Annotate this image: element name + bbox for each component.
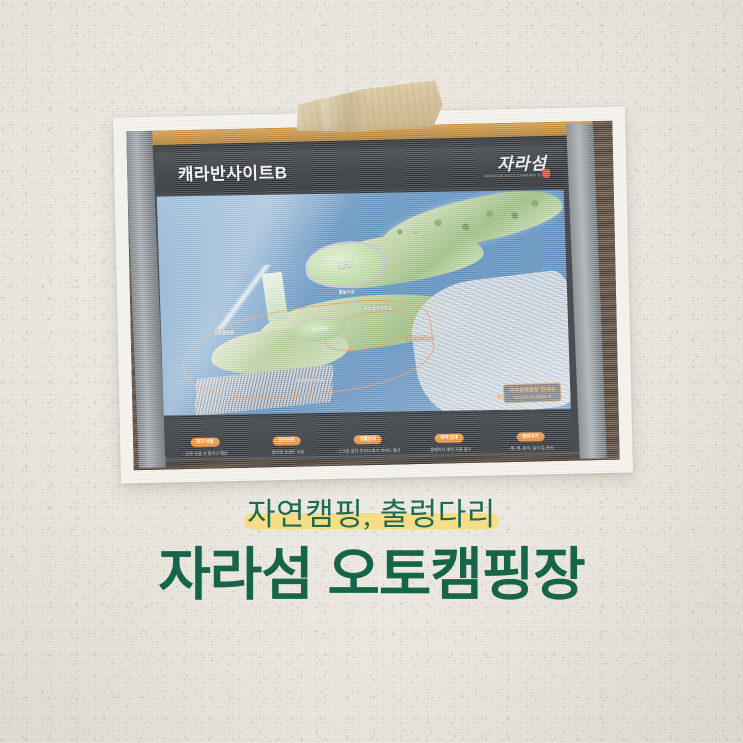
legend-item: 생활안내 - 스크린 설치 주차/소화기 카바드 철거 (329, 427, 407, 455)
map-info-center-box: 자라섬캠핑장 안내소 031)8028-8828~9 (503, 382, 562, 403)
information-sign-board: 캐라반사이트B 자라섬 JARASUM AUTO CAMPING SITE (137, 129, 590, 458)
map-label-caravan-site-a: 캬라반사이트A (297, 377, 325, 383)
legend-badge: 생활안내 (354, 435, 382, 444)
legend-item: 분리수거 - 병, 캔, 종이, 음식 등 분리 (492, 424, 570, 452)
jarasum-logo-mark-icon (543, 169, 551, 178)
sign-header-title: 캐라반사이트B (177, 158, 287, 185)
masking-tape-fold (320, 91, 369, 138)
subtitle: 자연캠핑, 출렁다리 (247, 496, 496, 535)
sign-legend-strip: 화기 사용 - 난로 사용 시 환기구 확보 전기안전 - 멀티탭 콘센트 사용… (164, 413, 572, 455)
caption-block: 자연캠핑, 출렁다리 자라섬 오토캠핑장 (0, 496, 743, 608)
map-label-jungdo-text: 중도 (338, 258, 354, 271)
legend-item: 예약 안내 - 홈페이지 예약 사용 접수 (410, 425, 488, 453)
map-label-caravan-site-b: 캬라반사이트 B (405, 336, 434, 342)
map-label-water-playground: 물놀이장 (339, 289, 355, 295)
map-info-center-title: 자라섬캠핑장 안내소 (509, 385, 556, 394)
legend-badge: 화기 사용 (190, 438, 220, 447)
map-label-lawn-field-text: 잔디광장 (311, 326, 328, 334)
photo-image: 캐라반사이트B 자라섬 JARASUM AUTO CAMPING SITE (126, 121, 619, 471)
sign-header-bar: 캐라반사이트B 자라섬 JARASUM AUTO CAMPING SITE (155, 146, 563, 193)
photo-card[interactable]: 캐라반사이트B 자라섬 JARASUM AUTO CAMPING SITE (113, 106, 633, 483)
page-title: 자라섬 오토캠핑장 (0, 544, 743, 608)
legend-badge: 예약 안내 (434, 434, 464, 443)
jarasum-logo: 자라섬 JARASUM AUTO CAMPING SITE (483, 155, 547, 178)
legend-item: 전기안전 - 멀티탭 콘센트 사용 (248, 428, 326, 456)
legend-description: - 병, 캔, 종이, 음식 등 분리 (492, 445, 569, 452)
map-label-auto-camping: 오토캠핑장 (214, 330, 234, 336)
jarasum-logo-text: 자라섬 (483, 155, 547, 173)
aerial-park-map: 중도 잔디광장 자라섬자연학교 물놀이장 캬라반사이트 B 캬라반사이트A 오토… (157, 189, 571, 415)
subtitle-wrapper: 자연캠핑, 출렁다리 (241, 496, 502, 535)
legend-item: 화기 사용 - 난로 사용 시 환기구 확보 (166, 429, 244, 457)
legend-description: - 홈페이지 예약 사용 접수 (411, 446, 488, 453)
legend-badge: 분리수거 (516, 432, 544, 441)
legend-description: - 스크린 설치 주차/소화기 카바드 철거 (330, 447, 407, 454)
map-info-arrow-icon (497, 393, 503, 399)
legend-description: - 난로 사용 시 환기구 확보 (167, 450, 244, 457)
legend-badge: 전기안전 (272, 436, 300, 445)
map-label-nature-school: 자라섬자연학교 (364, 306, 392, 312)
jarasum-logo-subtext: JARASUM AUTO CAMPING SITE (484, 174, 548, 178)
map-info-center-phone: 031)8028-8828~9 (509, 393, 556, 400)
legend-description: - 멀티탭 콘센트 사용 (248, 449, 325, 456)
